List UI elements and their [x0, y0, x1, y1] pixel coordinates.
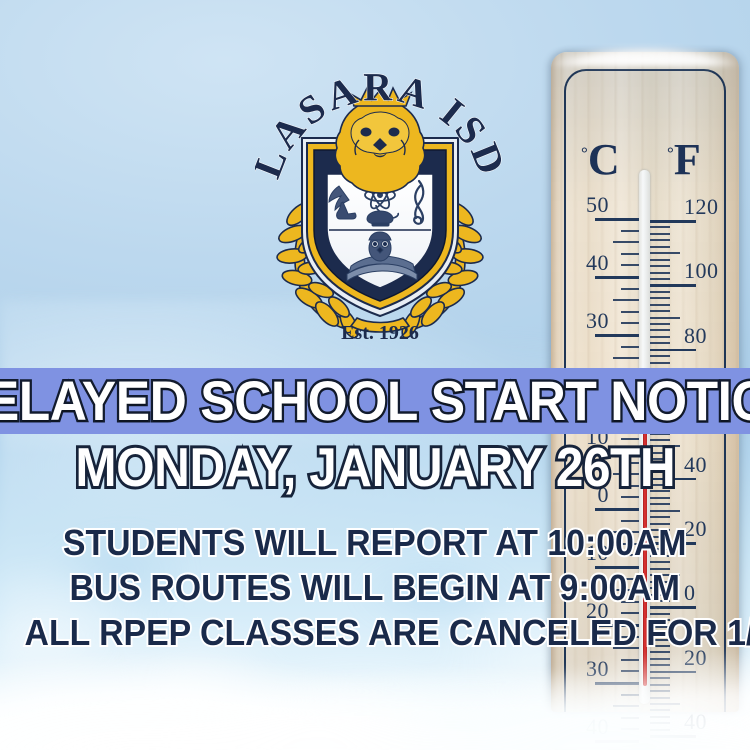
fahrenheit-minor-tick: [650, 239, 670, 241]
celsius-major-tick: [595, 334, 639, 337]
fahrenheit-major-tick: [650, 349, 696, 352]
fahrenheit-minor-tick: [650, 246, 670, 248]
fahrenheit-minor-tick: [650, 323, 670, 325]
celsius-minor-tick: [621, 346, 639, 348]
detail-lines: STUDENTS WILL REPORT AT 10:00AM BUS ROUT…: [0, 520, 750, 655]
celsius-major-tick: [595, 508, 639, 511]
fahrenheit-minor-tick: [650, 503, 670, 505]
fahrenheit-minor-tick: [650, 265, 670, 267]
fahrenheit-minor-tick: [650, 336, 670, 338]
fahrenheit-minor-tick: [650, 291, 670, 293]
fahrenheit-major-tick: [650, 284, 696, 287]
celsius-minor-tick: [613, 299, 639, 301]
fahrenheit-minor-tick: [650, 342, 670, 344]
fahrenheit-minor-tick: [650, 329, 670, 331]
fahrenheit-minor-tick: [650, 362, 670, 364]
fahrenheit-minor-tick: [650, 510, 680, 512]
detail-text-1: STUDENTS WILL REPORT AT 10:00AM: [63, 520, 687, 565]
celsius-minor-tick: [621, 264, 639, 266]
detail-text-2: BUS ROUTES WILL BEGIN AT 9:00AM: [70, 565, 680, 610]
fahrenheit-minor-tick: [650, 317, 680, 319]
celsius-major-tick: [595, 276, 639, 279]
fahrenheit-minor-tick: [650, 252, 680, 254]
celsius-label-30: 30: [586, 310, 609, 332]
logo-established-text: Est. 1926: [341, 322, 419, 344]
detail-line-2: BUS ROUTES WILL BEGIN AT 9:00AM: [0, 565, 750, 610]
fahrenheit-label-80: 80: [684, 325, 707, 347]
fahrenheit-minor-tick: [650, 278, 670, 280]
subheadline: MONDAY, JANUARY 26TH: [0, 440, 750, 495]
snow-day-announcement-poster: °C °F 5040302010010203040 12010080604020…: [0, 0, 750, 750]
celsius-major-tick: [595, 218, 639, 221]
detail-line-1: STUDENTS WILL REPORT AT 10:00AM: [0, 520, 750, 565]
fahrenheit-minor-tick: [650, 259, 670, 261]
celsius-minor-tick: [621, 322, 639, 324]
fahrenheit-minor-tick: [650, 297, 670, 299]
fahrenheit-minor-tick: [650, 304, 670, 306]
celsius-minor-tick: [621, 253, 639, 255]
lasara-isd-logo: LASARA ISD Est. 1926: [255, 62, 505, 344]
fahrenheit-label-100: 100: [684, 260, 719, 282]
celsius-minor-tick: [613, 241, 639, 243]
fahrenheit-minor-tick: [650, 233, 670, 235]
celsius-minor-tick: [621, 311, 639, 313]
fahrenheit-minor-tick: [650, 226, 670, 228]
fahrenheit-major-tick: [650, 220, 696, 223]
celsius-label-50: 50: [586, 194, 609, 216]
celsius-minor-tick: [613, 357, 639, 359]
fahrenheit-minor-tick: [650, 310, 670, 312]
celsius-minor-tick: [621, 230, 639, 232]
celsius-label-40: 40: [586, 252, 609, 274]
headline-text: DELAYED SCHOOL START NOTICE: [0, 373, 750, 429]
fahrenheit-minor-tick: [650, 516, 670, 518]
subheadline-text: MONDAY, JANUARY 26TH: [75, 440, 675, 495]
fahrenheit-minor-tick: [650, 355, 670, 357]
fahrenheit-label-120: 120: [684, 196, 719, 218]
fahrenheit-minor-tick: [650, 272, 670, 274]
headline-band: DELAYED SCHOOL START NOTICE: [0, 368, 750, 434]
celsius-minor-tick: [621, 288, 639, 290]
snow-mound-foreground: [0, 640, 750, 750]
